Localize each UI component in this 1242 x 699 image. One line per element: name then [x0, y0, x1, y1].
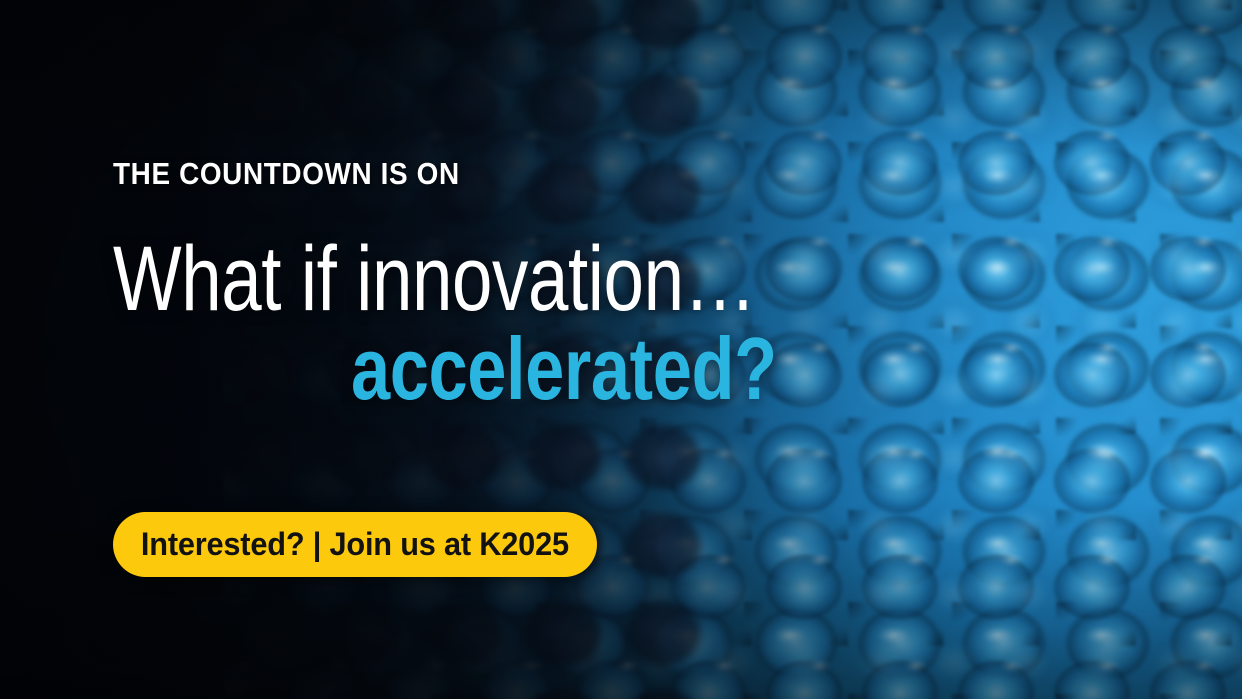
cta-button-label: Interested? | Join us at K2025 [141, 526, 569, 563]
headline-text: What if innovation… [113, 233, 756, 325]
eyebrow-text: THE COUNTDOWN IS ON [113, 158, 460, 189]
copy-block: THE COUNTDOWN IS ON What if innovation… … [113, 0, 873, 699]
cta-button[interactable]: Interested? | Join us at K2025 [113, 512, 597, 577]
subline-accent-text: accelerated? [351, 325, 777, 413]
promo-banner: THE COUNTDOWN IS ON What if innovation… … [0, 0, 1242, 699]
